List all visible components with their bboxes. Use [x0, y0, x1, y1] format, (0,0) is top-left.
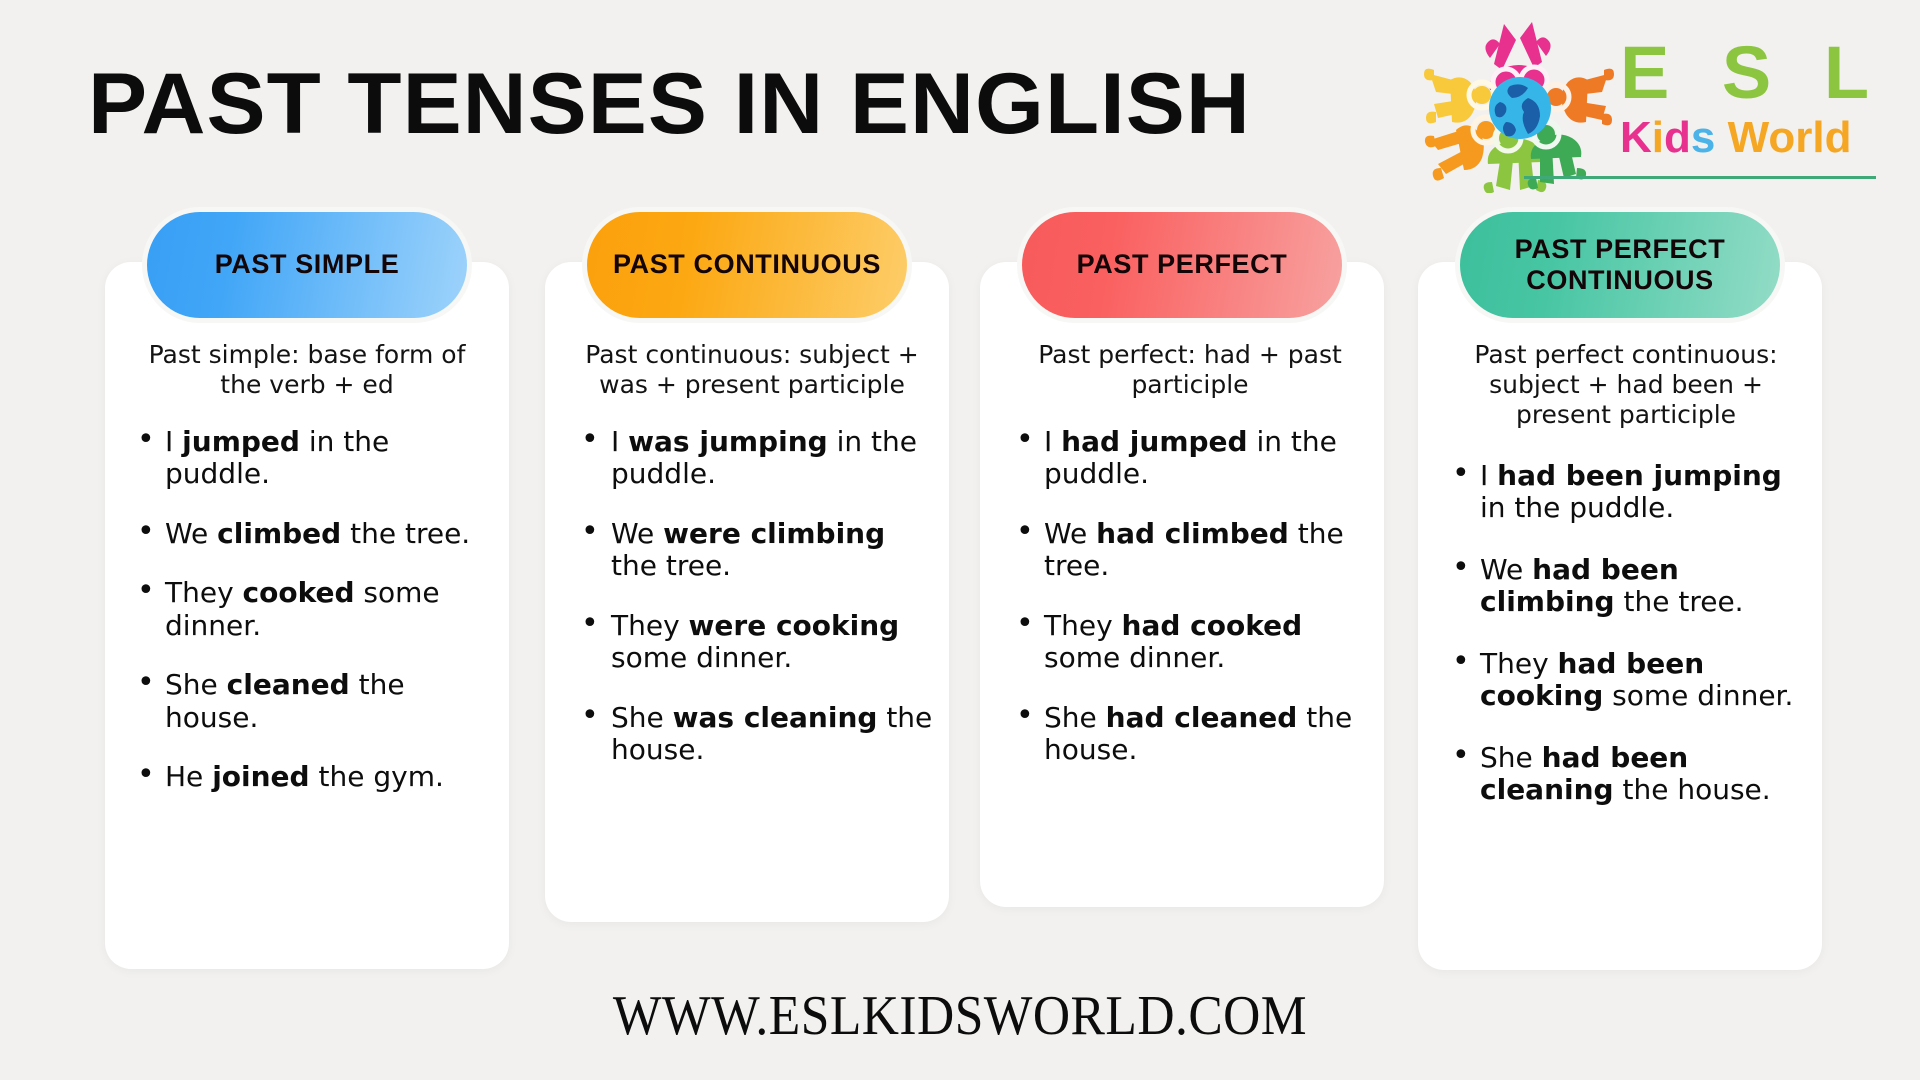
examples-list: I had been jumping in the puddle.We had … — [1442, 460, 1810, 807]
sentence-prefix: He — [165, 760, 212, 793]
sentence-suffix: the tree. — [611, 549, 731, 582]
tense-card-past-continuous: PAST CONTINUOUS Past continuous: subject… — [545, 262, 949, 922]
card-body: Past continuous: subject + was + present… — [545, 262, 949, 793]
logo-letter-d: d — [1664, 113, 1691, 162]
sentence-verb: had jumped — [1061, 425, 1247, 458]
example-sentence: She had cleaned the house. — [1006, 702, 1374, 767]
logo-kids-letters: Kids — [1620, 113, 1728, 162]
sentence-suffix: some dinner. — [1044, 641, 1225, 674]
example-sentence: They cooked some dinner. — [127, 577, 487, 642]
sentence-prefix: I — [1044, 425, 1061, 458]
card-title-pill-past-continuous: PAST CONTINUOUS — [587, 212, 907, 318]
sentence-prefix: She — [165, 668, 227, 701]
card-body: Past perfect continuous: subject + had b… — [1418, 262, 1822, 858]
sentence-prefix: They — [1044, 609, 1122, 642]
sentence-verb: had cleaned — [1106, 701, 1298, 734]
example-sentence: I had jumped in the puddle. — [1006, 426, 1374, 491]
sentence-verb: were cooking — [689, 609, 900, 642]
sentence-verb: was jumping — [628, 425, 828, 458]
formula-text: Past perfect continuous: subject + had b… — [1442, 340, 1810, 430]
tense-cards-container: PAST SIMPLE Past simple: base form of th… — [0, 262, 1920, 962]
example-sentence: She was cleaning the house. — [571, 702, 933, 767]
tense-card-past-simple: PAST SIMPLE Past simple: base form of th… — [105, 262, 509, 969]
example-sentence: They were cooking some dinner. — [571, 610, 933, 675]
card-title-pill-past-simple: PAST SIMPLE — [147, 212, 467, 318]
sentence-suffix: the house. — [1614, 773, 1771, 806]
sentence-prefix: We — [1044, 517, 1096, 550]
example-sentence: She had been cleaning the house. — [1442, 742, 1810, 807]
logo-letter-k: K — [1620, 113, 1652, 162]
sentence-verb: jumped — [182, 425, 300, 458]
sentence-prefix: I — [611, 425, 628, 458]
example-sentence: We climbed the tree. — [127, 518, 487, 550]
examples-list: I was jumping in the puddle.We were clim… — [571, 426, 933, 767]
example-sentence: We had been climbing the tree. — [1442, 554, 1810, 619]
sentence-suffix: in the puddle. — [1480, 491, 1674, 524]
example-sentence: We had climbed the tree. — [1006, 518, 1374, 583]
example-sentence: He joined the gym. — [127, 761, 487, 793]
logo-letter-i: i — [1652, 113, 1664, 162]
page-title: PAST TENSES IN ENGLISH — [88, 55, 1251, 154]
infographic-page: PAST TENSES IN ENGLISH — [0, 0, 1920, 1080]
sentence-prefix: I — [165, 425, 182, 458]
sentence-verb: had cooked — [1122, 609, 1303, 642]
example-sentence: She cleaned the house. — [127, 669, 487, 734]
sentence-verb: was cleaning — [673, 701, 878, 734]
sentence-prefix: We — [611, 517, 663, 550]
tense-card-past-perfect-continuous: PAST PERFECT CONTINUOUS Past perfect con… — [1418, 262, 1822, 970]
formula-text: Past simple: base form of the verb + ed — [127, 340, 487, 400]
examples-list: I had jumped in the puddle.We had climbe… — [1006, 426, 1374, 767]
logo-letter-s: s — [1691, 113, 1715, 162]
sentence-verb: joined — [212, 760, 309, 793]
logo-world-text: World — [1728, 113, 1852, 162]
example-sentence: They had been cooking some dinner. — [1442, 648, 1810, 713]
example-sentence: I jumped in the puddle. — [127, 426, 487, 491]
card-body: Past perfect: had + past participle I ha… — [980, 262, 1384, 793]
logo-esl-text: E S L — [1620, 34, 1898, 112]
sentence-prefix: I — [1480, 459, 1497, 492]
formula-text: Past perfect: had + past participle — [1006, 340, 1374, 400]
sentence-suffix: some dinner. — [1603, 679, 1793, 712]
sentence-verb: had climbed — [1096, 517, 1289, 550]
sentence-prefix: She — [1044, 701, 1106, 734]
sentence-prefix: She — [1480, 741, 1542, 774]
sentence-verb: climbed — [217, 517, 341, 550]
sentence-verb: cooked — [243, 576, 355, 609]
header: PAST TENSES IN ENGLISH — [0, 0, 1920, 215]
examples-list: I jumped in the puddle.We climbed the tr… — [127, 426, 487, 794]
brand-logo: E S L Kids World — [1424, 14, 1894, 204]
example-sentence: I had been jumping in the puddle. — [1442, 460, 1810, 525]
sentence-verb: cleaned — [227, 668, 350, 701]
formula-text: Past continuous: subject + was + present… — [571, 340, 933, 400]
tense-card-past-perfect: PAST PERFECT Past perfect: had + past pa… — [980, 262, 1384, 907]
logo-underline — [1524, 176, 1876, 179]
logo-wordmark: E S L Kids World — [1620, 34, 1898, 162]
sentence-verb: were climbing — [663, 517, 885, 550]
people-globe-icon — [1424, 18, 1614, 193]
example-sentence: They had cooked some dinner. — [1006, 610, 1374, 675]
sentence-prefix: She — [611, 701, 673, 734]
footer-url: WWW.ESLKIDSWORLD.COM — [77, 984, 1843, 1048]
sentence-verb: had been jumping — [1497, 459, 1782, 492]
card-title-pill-past-perfect-continuous: PAST PERFECT CONTINUOUS — [1460, 212, 1780, 318]
sentence-prefix: They — [611, 609, 689, 642]
card-title-pill-past-perfect: PAST PERFECT — [1022, 212, 1342, 318]
sentence-suffix: some dinner. — [611, 641, 792, 674]
sentence-prefix: We — [1480, 553, 1532, 586]
card-body: Past simple: base form of the verb + ed … — [105, 262, 509, 820]
example-sentence: I was jumping in the puddle. — [571, 426, 933, 491]
sentence-prefix: We — [165, 517, 217, 550]
logo-kids-world-text: Kids World — [1620, 114, 1898, 162]
example-sentence: We were climbing the tree. — [571, 518, 933, 583]
sentence-prefix: They — [165, 576, 243, 609]
sentence-prefix: They — [1480, 647, 1558, 680]
sentence-suffix: the tree. — [1615, 585, 1744, 618]
sentence-suffix: the gym. — [310, 760, 444, 793]
sentence-suffix: the tree. — [341, 517, 470, 550]
